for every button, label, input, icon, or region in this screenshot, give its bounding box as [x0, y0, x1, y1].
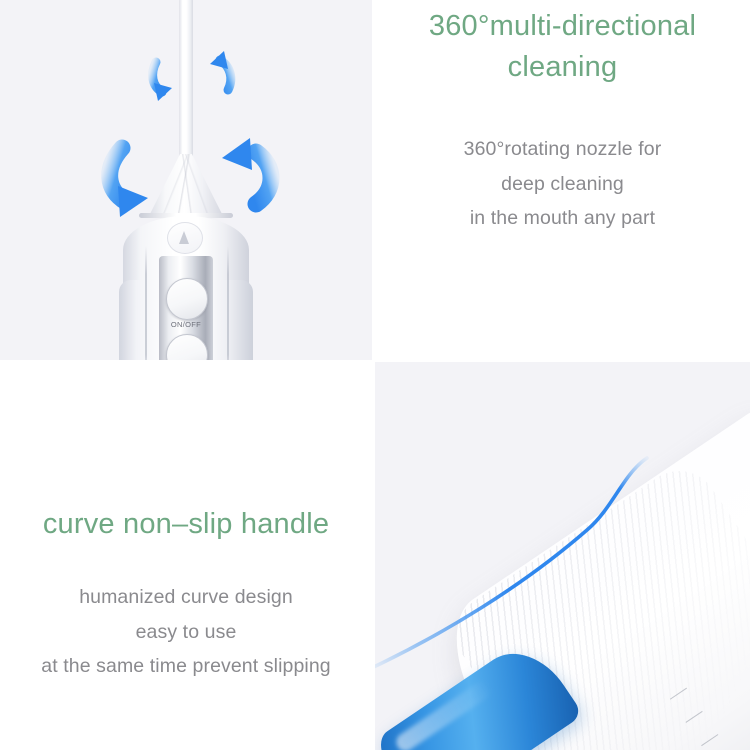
- scale-tick: [685, 711, 702, 723]
- panel-handle-photo: [375, 362, 750, 750]
- handle-panel-line-right: [227, 246, 229, 360]
- scale-tick: [701, 734, 718, 746]
- handle-photo: [375, 362, 750, 750]
- cleaning-body-line-3: in the mouth any part: [375, 201, 750, 236]
- cleaning-body-line-1: 360°rotating nozzle for: [375, 132, 750, 167]
- handle-body-block: humanized curve design easy to use at th…: [0, 580, 372, 684]
- panel-nozzle-photo: ON/OFF: [0, 0, 372, 360]
- power-button[interactable]: [166, 278, 208, 320]
- handle-body-line-1: humanized curve design: [0, 580, 372, 615]
- handle-heading: curve non–slip handle: [0, 504, 372, 545]
- scale-tick: [670, 687, 687, 699]
- handle-panel-line-left: [145, 246, 147, 360]
- cleaning-body-line-2: deep cleaning: [375, 167, 750, 202]
- handle-heading-block: curve non–slip handle: [0, 504, 372, 545]
- power-button-label: ON/OFF: [159, 320, 213, 329]
- flosser-device: ON/OFF: [81, 0, 291, 360]
- nozzle-shaft: [179, 0, 193, 170]
- nozzle-cone-ribs: [149, 154, 223, 216]
- panel-handle-copy: curve non–slip handle humanized curve de…: [0, 362, 372, 750]
- nozzle-photo: ON/OFF: [0, 0, 372, 360]
- panel-cleaning-copy: 360°multi-directional cleaning 360°rotat…: [375, 0, 750, 360]
- handle-body-line-2: easy to use: [0, 615, 372, 650]
- cleaning-body-block: 360°rotating nozzle for deep cleaning in…: [375, 132, 750, 236]
- handle-body-line-3: at the same time prevent slipping: [0, 649, 372, 684]
- product-feature-collage: ON/OFF: [0, 0, 750, 750]
- brand-badge-icon: [167, 222, 203, 254]
- cleaning-heading-block: 360°multi-directional cleaning: [375, 6, 750, 88]
- cleaning-heading: 360°multi-directional cleaning: [375, 6, 750, 88]
